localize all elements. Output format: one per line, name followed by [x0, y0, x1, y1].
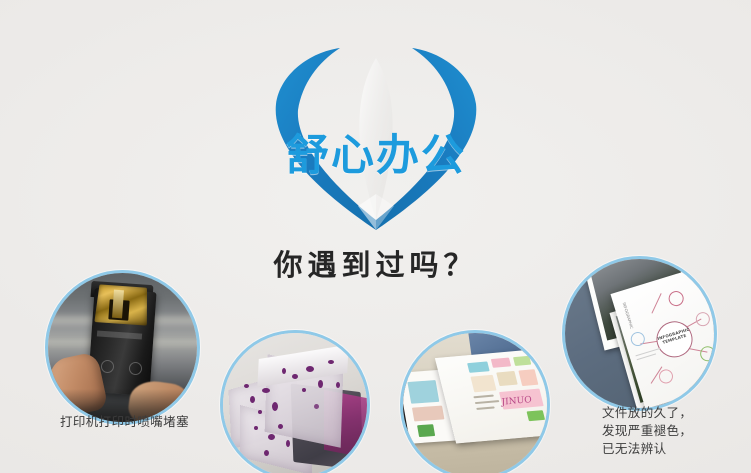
photo-3-image: JINUO	[400, 330, 550, 473]
photo-4-image: INFOGRAPHICTEMPLATE INFOGRAPHIC	[562, 256, 717, 411]
brand-logo: 舒心办公	[262, 44, 490, 236]
photo-circle-4: INFOGRAPHICTEMPLATE INFOGRAPHIC	[562, 256, 717, 411]
brand-name: 舒心办公	[262, 132, 490, 180]
photo-circle-2	[220, 330, 370, 473]
photo-circle-1	[45, 270, 200, 425]
photo-1-caption: 打印机打印时喷嘴堵塞	[42, 413, 207, 431]
promo-banner: 舒心办公 你遇到过吗？ 打印机打印时喷嘴堵塞	[0, 0, 751, 473]
photo-circle-3: JINUO	[400, 330, 550, 473]
photo-4-caption: 文件放的久了， 发现严重褪色， 已无法辨认	[602, 404, 722, 458]
photo-1-image	[45, 270, 200, 425]
photo-2-image	[220, 330, 370, 473]
